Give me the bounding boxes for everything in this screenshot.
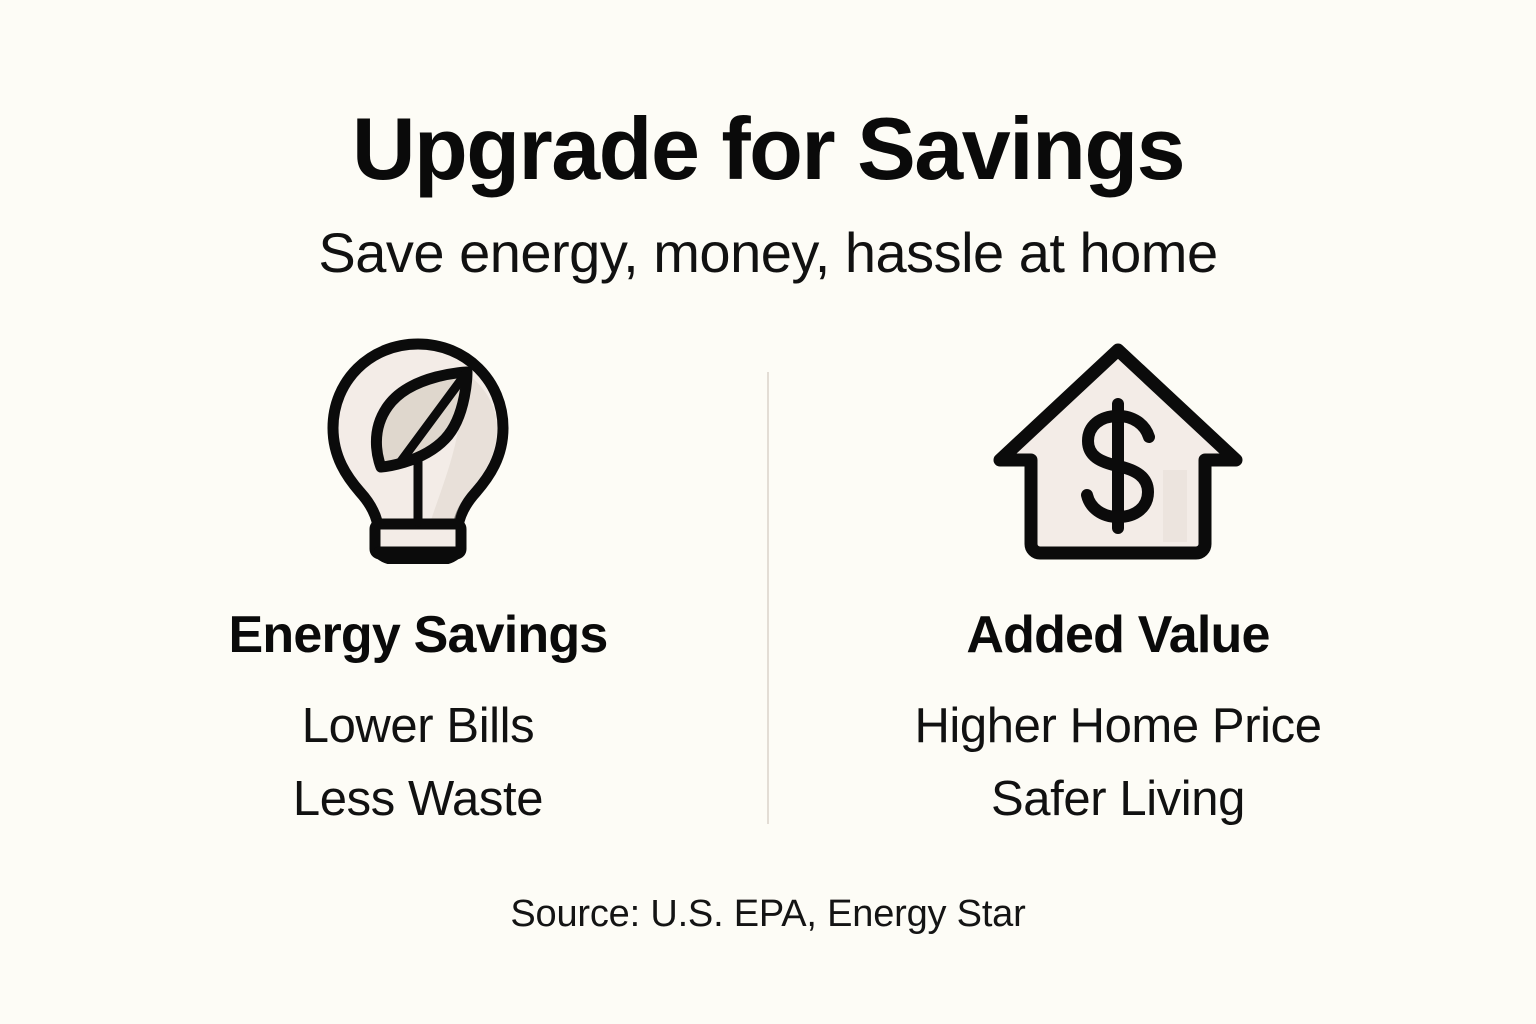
- source-attribution: Source: U.S. EPA, Energy Star: [510, 893, 1025, 936]
- header: Upgrade for Savings Save energy, money, …: [0, 104, 1536, 283]
- benefit-column-energy-savings: Energy Savings Lower Bills Less Waste: [68, 339, 768, 836]
- benefit-line: Safer Living: [914, 763, 1321, 836]
- benefit-line-list: Lower Bills Less Waste: [293, 690, 543, 835]
- column-divider: [767, 372, 769, 824]
- benefit-column-added-value: Added Value Higher Home Price Safer Livi…: [768, 339, 1468, 836]
- page-title: Upgrade for Savings: [0, 104, 1536, 194]
- benefit-columns: Energy Savings Lower Bills Less Waste: [48, 339, 1488, 836]
- house-dollar-icon-wrap: [987, 339, 1249, 564]
- benefit-line-list: Higher Home Price Safer Living: [914, 690, 1321, 835]
- benefit-heading: Energy Savings: [229, 608, 608, 663]
- lightbulb-leaf-icon-wrap: [315, 339, 521, 564]
- benefit-line: Less Waste: [293, 763, 543, 836]
- page-subtitle: Save energy, money, hassle at home: [0, 224, 1536, 283]
- benefit-line: Lower Bills: [293, 690, 543, 763]
- benefit-line: Higher Home Price: [914, 690, 1321, 763]
- infographic-poster: Upgrade for Savings Save energy, money, …: [0, 0, 1536, 1024]
- benefit-heading: Added Value: [966, 608, 1269, 663]
- lightbulb-leaf-icon: [315, 336, 521, 564]
- house-dollar-icon: [987, 338, 1249, 564]
